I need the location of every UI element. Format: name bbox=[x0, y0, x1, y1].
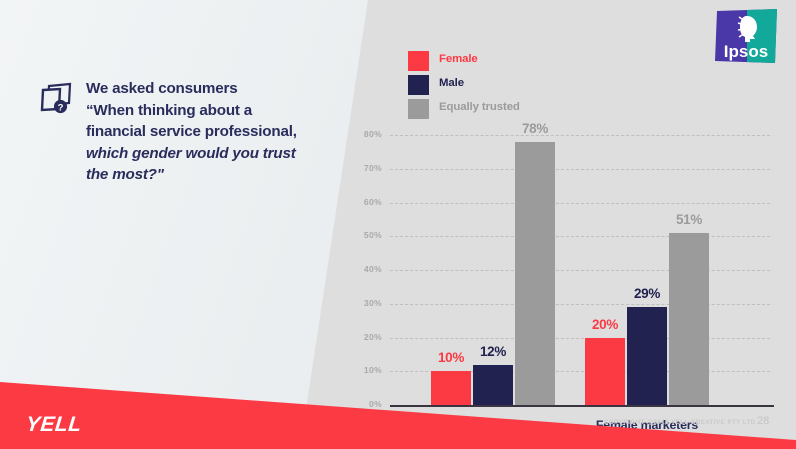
y-axis-tick-label: 20% bbox=[346, 332, 382, 342]
legend-swatch-icon bbox=[408, 51, 429, 71]
gridline bbox=[390, 169, 770, 170]
page-title: We asked consumers “When thinking about … bbox=[86, 78, 366, 186]
page-number: 28 bbox=[757, 415, 769, 427]
bar-value-label: 29% bbox=[617, 286, 677, 301]
bar-value-label: 20% bbox=[575, 317, 635, 332]
bar-value-label: 78% bbox=[505, 121, 565, 136]
y-axis-tick-label: 60% bbox=[346, 197, 382, 207]
y-axis-tick-label: 30% bbox=[346, 298, 382, 308]
legend-label: Female bbox=[439, 53, 478, 65]
copyright-text: COPYRIGHT @2018 YELL CREATIVE PTY LTD bbox=[604, 419, 756, 426]
bar-female-marketers-female[interactable] bbox=[585, 338, 625, 406]
bar-consumers-equally-trusted[interactable] bbox=[515, 142, 555, 405]
headline-line-2: “When thinking about a bbox=[86, 102, 252, 119]
yell-logo: YELL bbox=[25, 413, 83, 437]
y-axis-tick-label: 40% bbox=[346, 264, 382, 274]
gridline bbox=[390, 338, 770, 339]
svg-text:?: ? bbox=[58, 102, 64, 113]
headline-line-3: financial service professional, bbox=[86, 123, 297, 140]
gridline bbox=[390, 236, 770, 237]
headline-line-4: which gender would you trust bbox=[86, 143, 366, 165]
y-axis-tick-label: 0% bbox=[346, 399, 382, 409]
y-axis-tick-label: 80% bbox=[346, 129, 382, 139]
y-axis-tick-label: 70% bbox=[346, 163, 382, 173]
headline-line-1: We asked consumers bbox=[86, 80, 237, 97]
gridline bbox=[390, 270, 770, 271]
y-axis-tick-label: 10% bbox=[346, 365, 382, 375]
chart-plot-area: 0%10%20%30%40%50%60%70%80%10%12%78%Consu… bbox=[390, 85, 780, 415]
slide-canvas: Ipsos ? We asked consumers “When thinkin… bbox=[0, 0, 796, 449]
gridline bbox=[390, 203, 770, 204]
bar-chart: FemaleMaleEqually trusted 0%10%20%30%40%… bbox=[350, 40, 780, 385]
bar-female-marketers-equally-trusted[interactable] bbox=[669, 233, 709, 405]
bar-value-label: 51% bbox=[659, 212, 719, 227]
gridline bbox=[390, 135, 770, 136]
bar-consumers-female[interactable] bbox=[431, 371, 471, 405]
y-axis-tick-label: 50% bbox=[346, 230, 382, 240]
gridline bbox=[390, 304, 770, 305]
bar-consumers-male[interactable] bbox=[473, 365, 513, 406]
x-axis-line bbox=[390, 405, 774, 407]
question-card-icon: ? bbox=[40, 82, 76, 116]
bar-value-label: 12% bbox=[463, 344, 523, 359]
bar-female-marketers-male[interactable] bbox=[627, 307, 667, 405]
headline-line-5: the most?" bbox=[86, 164, 366, 186]
